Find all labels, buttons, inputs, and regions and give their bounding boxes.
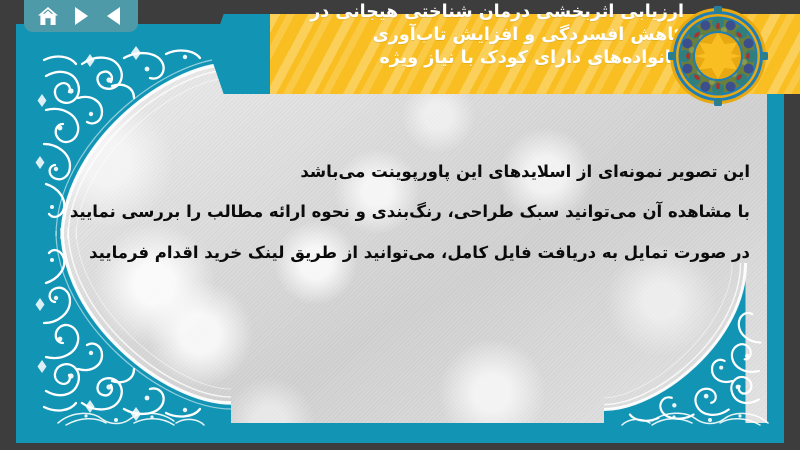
viewer-bottom-chrome — [0, 443, 800, 450]
next-slide-button[interactable] — [68, 3, 94, 29]
body-line-3: در صورت تمایل به دریافت فایل کامل، می‌تو… — [50, 233, 750, 273]
title-line-1: ارزیابی اثربخشی درمان شناختی هیجانی در — [84, 1, 684, 24]
triangle-left-icon — [107, 7, 120, 25]
home-icon — [37, 6, 59, 26]
triangle-right-icon — [75, 7, 88, 25]
previous-slide-button[interactable] — [101, 3, 127, 29]
presentation-viewer: این تصویر نمونه‌ای از اسلایدهای این پاور… — [0, 0, 800, 450]
body-line-1: این تصویر نمونه‌ای از اسلایدهای این پاور… — [50, 152, 750, 192]
bottom-flourish-right-icon — [620, 409, 770, 427]
slide-border-right — [767, 24, 784, 443]
slide-canvas: این تصویر نمونه‌ای از اسلایدهای این پاور… — [16, 24, 784, 443]
slide-navigation-bar[interactable] — [24, 0, 138, 32]
slide-body-text: این تصویر نمونه‌ای از اسلایدهای این پاور… — [50, 152, 750, 273]
bottom-flourish-left-icon — [56, 409, 206, 427]
body-line-2: با مشاهده آن می‌توانید سبک طراحی، رنگ‌بن… — [50, 192, 750, 232]
home-button[interactable] — [35, 3, 61, 29]
